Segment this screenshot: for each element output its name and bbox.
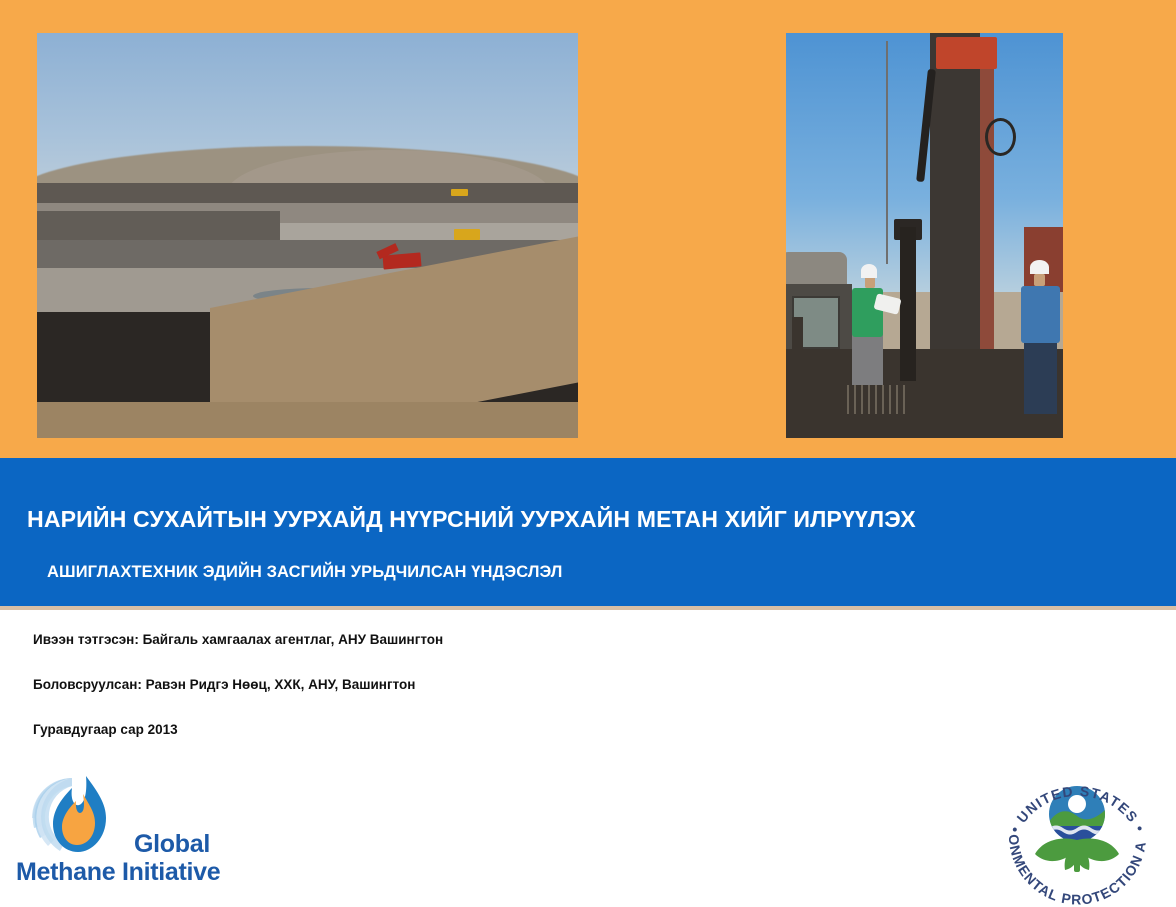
- credit-author: Боловсруулсан: Равэн Ридгэ Нөөц, ХХК, АН…: [33, 677, 733, 692]
- credit-date: Гуравдугаар сар 2013: [33, 722, 733, 737]
- drill-rig-photo: [786, 33, 1063, 438]
- title-slide: НАРИЙН СУХАЙТЫН УУРХАЙД НҮҮРСНИЙ УУРХАЙН…: [0, 0, 1176, 907]
- red-mining-equipment: [383, 252, 422, 269]
- open-pit-coal-mine-photo: [37, 33, 578, 438]
- rig-drill-pad: [786, 349, 1063, 438]
- epa-seal-logo: • UNITED STATES • ENVIRONMENTAL PROTECTI…: [995, 762, 1160, 907]
- haul-truck-near: [454, 229, 480, 240]
- worker-green-legs: [852, 333, 882, 386]
- rig-mast: [930, 33, 980, 373]
- worker-green-hardhat: [861, 264, 878, 278]
- credits-block: Ивээн тэтгэсэн: Байгаль хамгаалах агентл…: [33, 632, 733, 767]
- worker-blue-shirt: [1021, 286, 1060, 343]
- rig-mast-head-red: [936, 37, 997, 69]
- epa-seal-icon: • UNITED STATES • ENVIRONMENTAL PROTECTI…: [995, 762, 1160, 907]
- title-band-rule: [0, 606, 1176, 610]
- rig-drill-stem: [900, 227, 917, 381]
- credit-sponsor: Ивээн тэтгэсэн: Байгаль хамгаалах агентл…: [33, 632, 733, 647]
- rig-pipe-rack: [847, 385, 908, 413]
- page-subtitle: АШИГЛАХТЕХНИК ЭДИЙН ЗАСГИЙН УРЬДЧИЛСАН Ү…: [47, 563, 562, 582]
- worker-green-face: [865, 276, 875, 288]
- mine-foreground-gravel: [37, 402, 578, 438]
- photo-band: [0, 0, 1176, 458]
- rig-post: [792, 317, 803, 390]
- worker-blue-face: [1034, 274, 1045, 286]
- worker-blue-legs: [1024, 341, 1057, 414]
- page-title: НАРИЙН СУХАЙТЫН УУРХАЙД НҮҮРСНИЙ УУРХАЙН…: [27, 506, 916, 533]
- gmi-flame-icon: [20, 772, 124, 856]
- global-methane-initiative-logo: Global Methane Initiative: [16, 772, 241, 892]
- rig-guy-wire: [886, 41, 888, 264]
- haul-truck-far: [451, 189, 468, 196]
- worker-blue-hardhat: [1030, 260, 1049, 275]
- gmi-wordmark-line1: Global: [134, 832, 210, 858]
- gmi-wordmark-line2: Methane Initiative: [16, 860, 220, 886]
